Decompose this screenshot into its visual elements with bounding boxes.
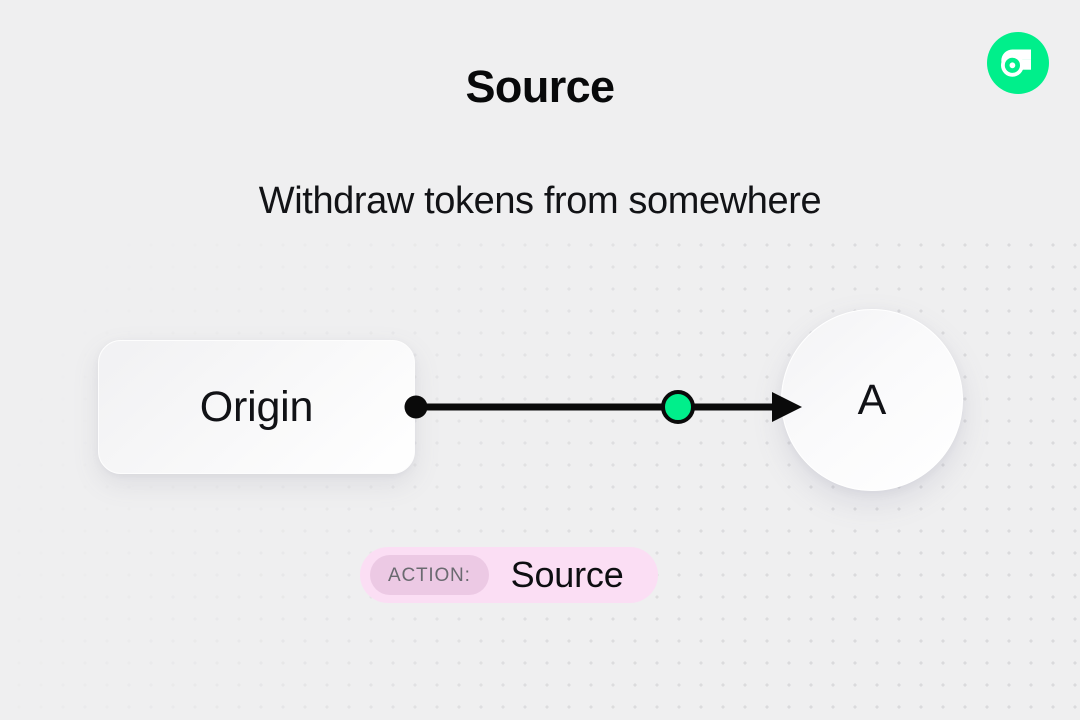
- graph-node-origin-label: Origin: [200, 386, 314, 429]
- graph-node-origin[interactable]: Origin: [98, 340, 415, 474]
- action-badge-value: Source: [489, 557, 650, 593]
- page-subtitle: Withdraw tokens from somewhere: [0, 180, 1080, 224]
- page-title: Source: [0, 62, 1080, 112]
- action-badge-key-label: ACTION:: [388, 566, 471, 585]
- action-badge[interactable]: ACTION: Source: [360, 547, 658, 603]
- edge-pulse-dot: [663, 392, 693, 422]
- graph-node-a[interactable]: A: [781, 309, 963, 491]
- flow-logo-icon[interactable]: [987, 32, 1049, 94]
- diagram-stage: Source Withdraw tokens from somewhere Or…: [0, 0, 1080, 720]
- graph-node-a-label: A: [858, 379, 887, 422]
- action-badge-key: ACTION:: [370, 555, 489, 595]
